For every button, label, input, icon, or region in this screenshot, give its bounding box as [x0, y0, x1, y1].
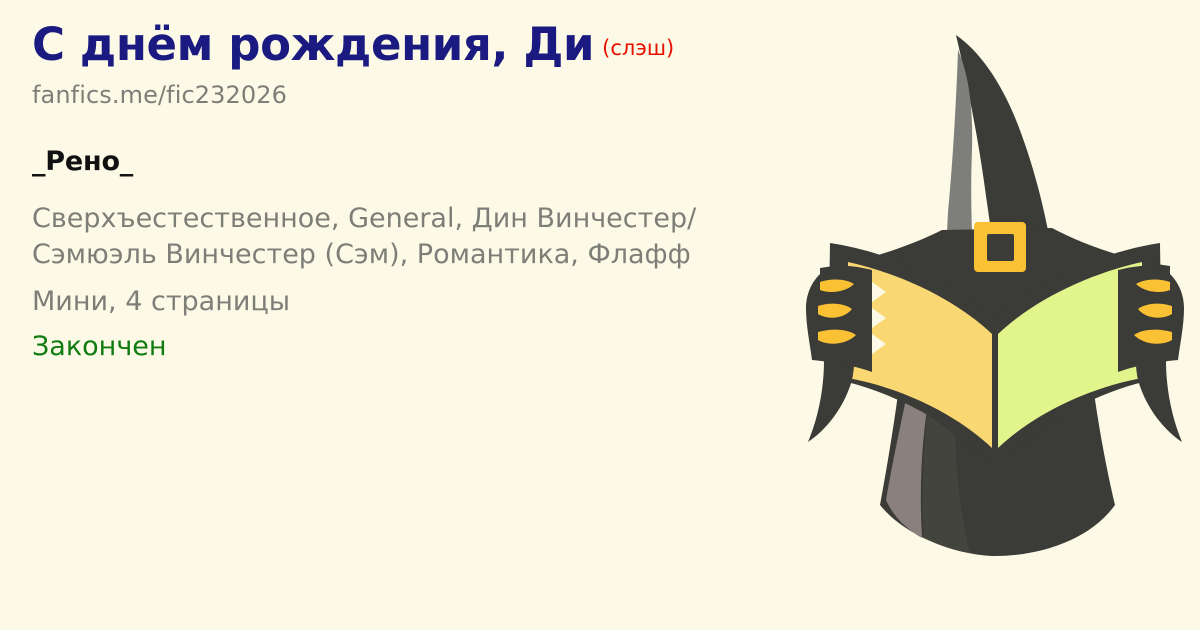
wizard-reading-book-icon — [790, 0, 1200, 630]
author-name[interactable]: _Рено_ — [32, 146, 802, 177]
rating-tag: (слэш) — [602, 36, 674, 60]
source-url[interactable]: fanfics.me/fic232026 — [32, 81, 802, 109]
page-title: С днём рождения, Ди — [32, 18, 594, 71]
title-row: С днём рождения, Ди(слэш) — [32, 22, 802, 67]
wizard-reading-book-illustration — [790, 0, 1200, 630]
work-meta: Сверхъестественное, General, Дин Винчест… — [32, 201, 802, 364]
buckle-hole — [987, 234, 1014, 261]
work-info-column: С днём рождения, Ди(слэш) fanfics.me/fic… — [32, 22, 802, 364]
book-spine — [993, 330, 997, 462]
work-size: Мини, 4 страницы — [32, 284, 777, 320]
work-tags: Сверхъестественное, General, Дин Винчест… — [32, 201, 777, 272]
og-preview-card: С днём рождения, Ди(слэш) fanfics.me/fic… — [0, 0, 1200, 630]
status-badge: Закончен — [32, 330, 802, 364]
hat-buckle — [974, 222, 1026, 272]
